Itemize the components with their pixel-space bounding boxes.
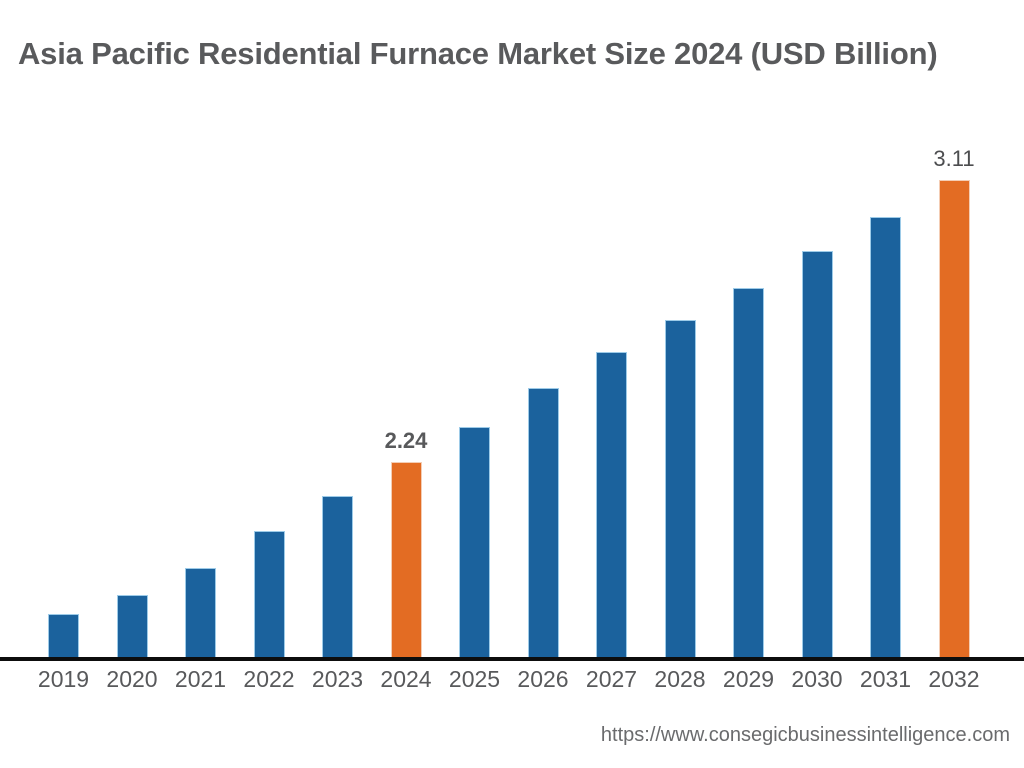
bar-group <box>802 110 833 657</box>
bar-2022[interactable] <box>254 531 285 657</box>
bar-2031[interactable] <box>870 217 901 657</box>
bar-group <box>48 110 79 657</box>
bar-series-layer: 2.243.11 <box>0 110 1024 660</box>
bar-group <box>870 110 901 657</box>
bar-value-label-2032: 3.11 <box>933 146 974 172</box>
bar-value-label-2024: 2.24 <box>385 428 428 454</box>
bar-2025[interactable] <box>459 427 490 657</box>
bar-group: 2.24 <box>391 110 422 657</box>
bar-2020[interactable] <box>117 595 148 657</box>
x-axis-tick-labels: 2019202020212022202320242025202620272028… <box>0 666 1024 700</box>
bar-group <box>117 110 148 657</box>
bar-2029[interactable] <box>733 288 764 657</box>
bar-2030[interactable] <box>802 251 833 657</box>
bar-2027[interactable] <box>596 352 627 657</box>
bar-2021[interactable] <box>185 568 216 657</box>
bar-group <box>185 110 216 657</box>
bar-2023[interactable] <box>322 496 353 657</box>
bar-group <box>459 110 490 657</box>
plot-area: 2.243.11 <box>0 110 1024 660</box>
bar-2019[interactable] <box>48 614 79 657</box>
bar-group <box>733 110 764 657</box>
x-tick-label-2032: 2032 <box>914 666 994 693</box>
chart-title: Asia Pacific Residential Furnace Market … <box>18 36 1018 72</box>
bar-group <box>665 110 696 657</box>
bar-2026[interactable] <box>528 388 559 657</box>
bar-group <box>528 110 559 657</box>
x-axis-line <box>0 657 1024 661</box>
bar-group <box>596 110 627 657</box>
source-url-text: https://www.consegicbusinessintelligence… <box>601 724 1010 747</box>
bar-2024[interactable] <box>391 462 422 657</box>
bar-2032[interactable] <box>939 180 970 657</box>
chart-container: Asia Pacific Residential Furnace Market … <box>0 0 1024 768</box>
bar-group <box>322 110 353 657</box>
bar-group: 3.11 <box>939 110 970 657</box>
bar-group <box>254 110 285 657</box>
bar-2028[interactable] <box>665 320 696 657</box>
